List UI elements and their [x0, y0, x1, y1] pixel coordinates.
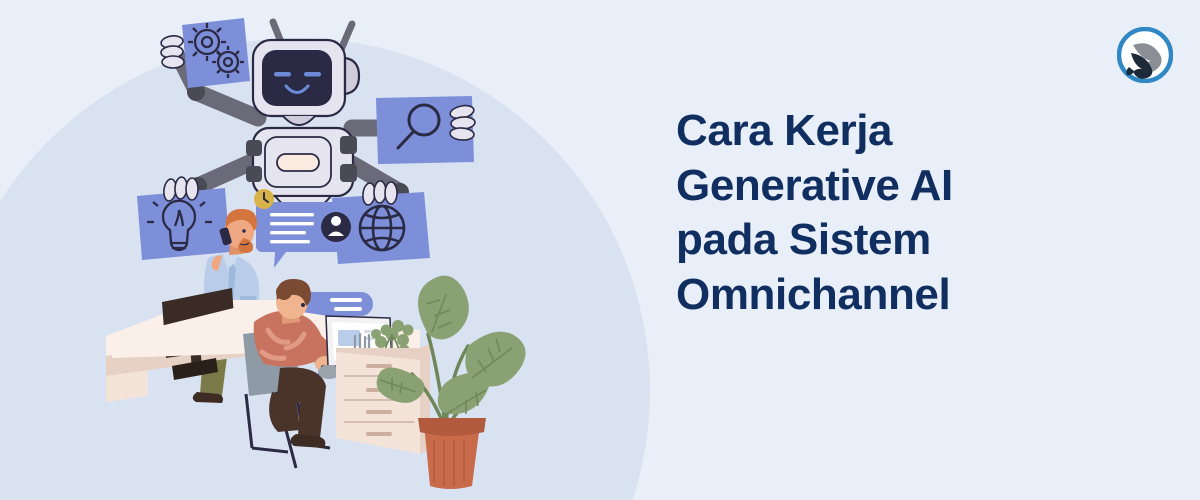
robot-hand-4 [362, 181, 397, 206]
robot-hand-2 [449, 104, 475, 141]
robot-hand-1 [160, 35, 184, 68]
monstera-plant [377, 276, 526, 489]
card-idea [137, 177, 230, 260]
card-search [376, 96, 475, 164]
page-title: Cara Kerja Generative AI pada Sistem Omn… [676, 104, 1076, 322]
dolphin-logo[interactable] [1117, 27, 1173, 83]
banner-root: Cara Kerja Generative AI pada Sistem Omn… [0, 0, 1200, 500]
robot-hand-3 [163, 177, 198, 202]
robot-head [253, 40, 359, 125]
illustration [0, 0, 660, 500]
card-gears [160, 18, 250, 88]
